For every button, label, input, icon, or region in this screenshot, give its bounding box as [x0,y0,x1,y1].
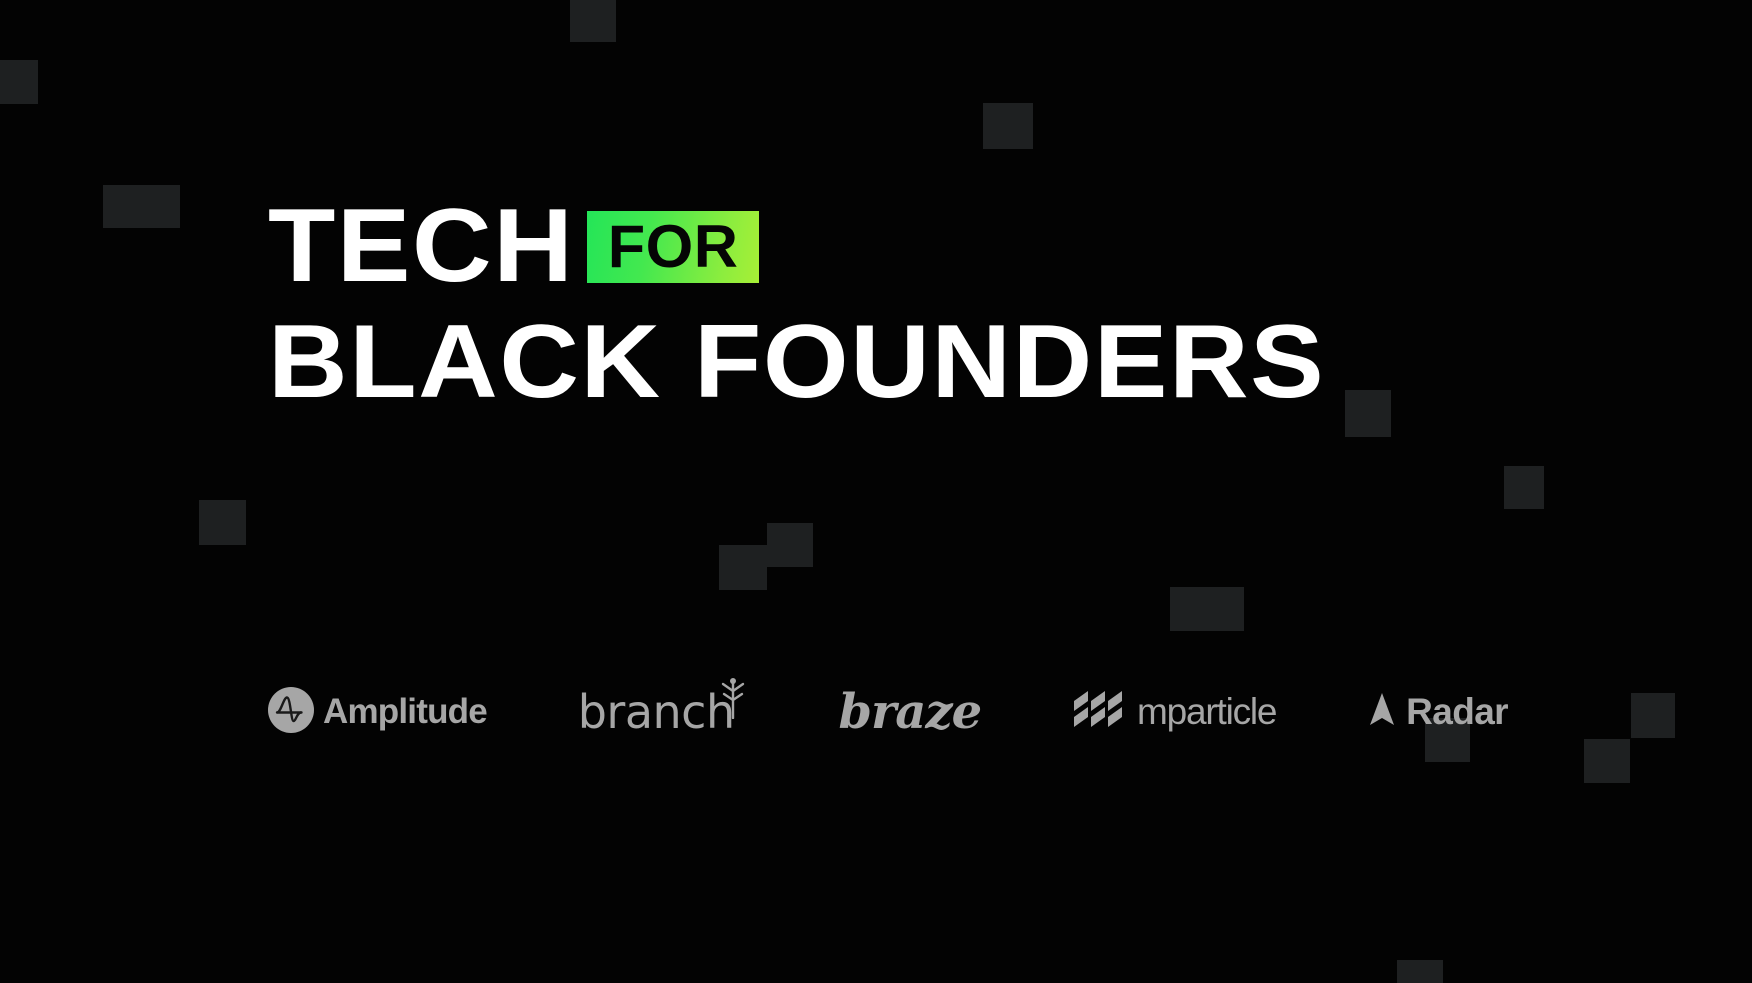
background-block [570,0,616,42]
background-block [0,60,38,104]
logo-mparticle-label: mparticle [1137,691,1276,733]
background-block-pattern [0,0,1752,983]
for-badge: FOR [587,211,759,283]
background-block [1631,693,1675,738]
background-block [983,103,1033,149]
hero-banner: TECH FOR BLACK FOUNDERS Amplitude branch [0,0,1752,983]
logo-amplitude[interactable]: Amplitude [268,672,487,752]
background-block [103,185,180,228]
logo-radar[interactable]: Radar [1367,672,1508,752]
background-block [1170,587,1244,631]
branch-sprout-icon [718,675,748,724]
background-block [719,545,767,590]
logo-braze-label: braze [838,684,981,740]
background-block [1397,960,1443,983]
logo-branch[interactable]: branch [578,672,748,752]
logo-radar-label: Radar [1406,691,1508,733]
background-block [1584,739,1630,783]
headline-black-founders: BLACK FOUNDERS [268,312,1325,414]
logo-mparticle[interactable]: mparticle [1072,672,1276,752]
headline-word-tech: TECH [268,196,574,298]
headline-line-1: TECH FOR [268,196,1508,298]
headline-line-2: BLACK FOUNDERS [268,312,1508,414]
background-block [1504,466,1544,509]
radar-navigation-arrow-icon [1367,690,1397,735]
logo-braze[interactable]: braze [838,672,981,752]
background-block [767,523,813,567]
logo-amplitude-label: Amplitude [323,692,487,732]
amplitude-circle-wave-icon [268,687,314,738]
background-block [199,500,246,545]
partner-logo-strip: Amplitude branch braze [268,672,1508,752]
for-badge-label: FOR [608,217,739,277]
logo-branch-label: branch [578,685,735,739]
hero-headline: TECH FOR BLACK FOUNDERS [268,196,1508,414]
mparticle-slashes-icon [1072,687,1128,738]
